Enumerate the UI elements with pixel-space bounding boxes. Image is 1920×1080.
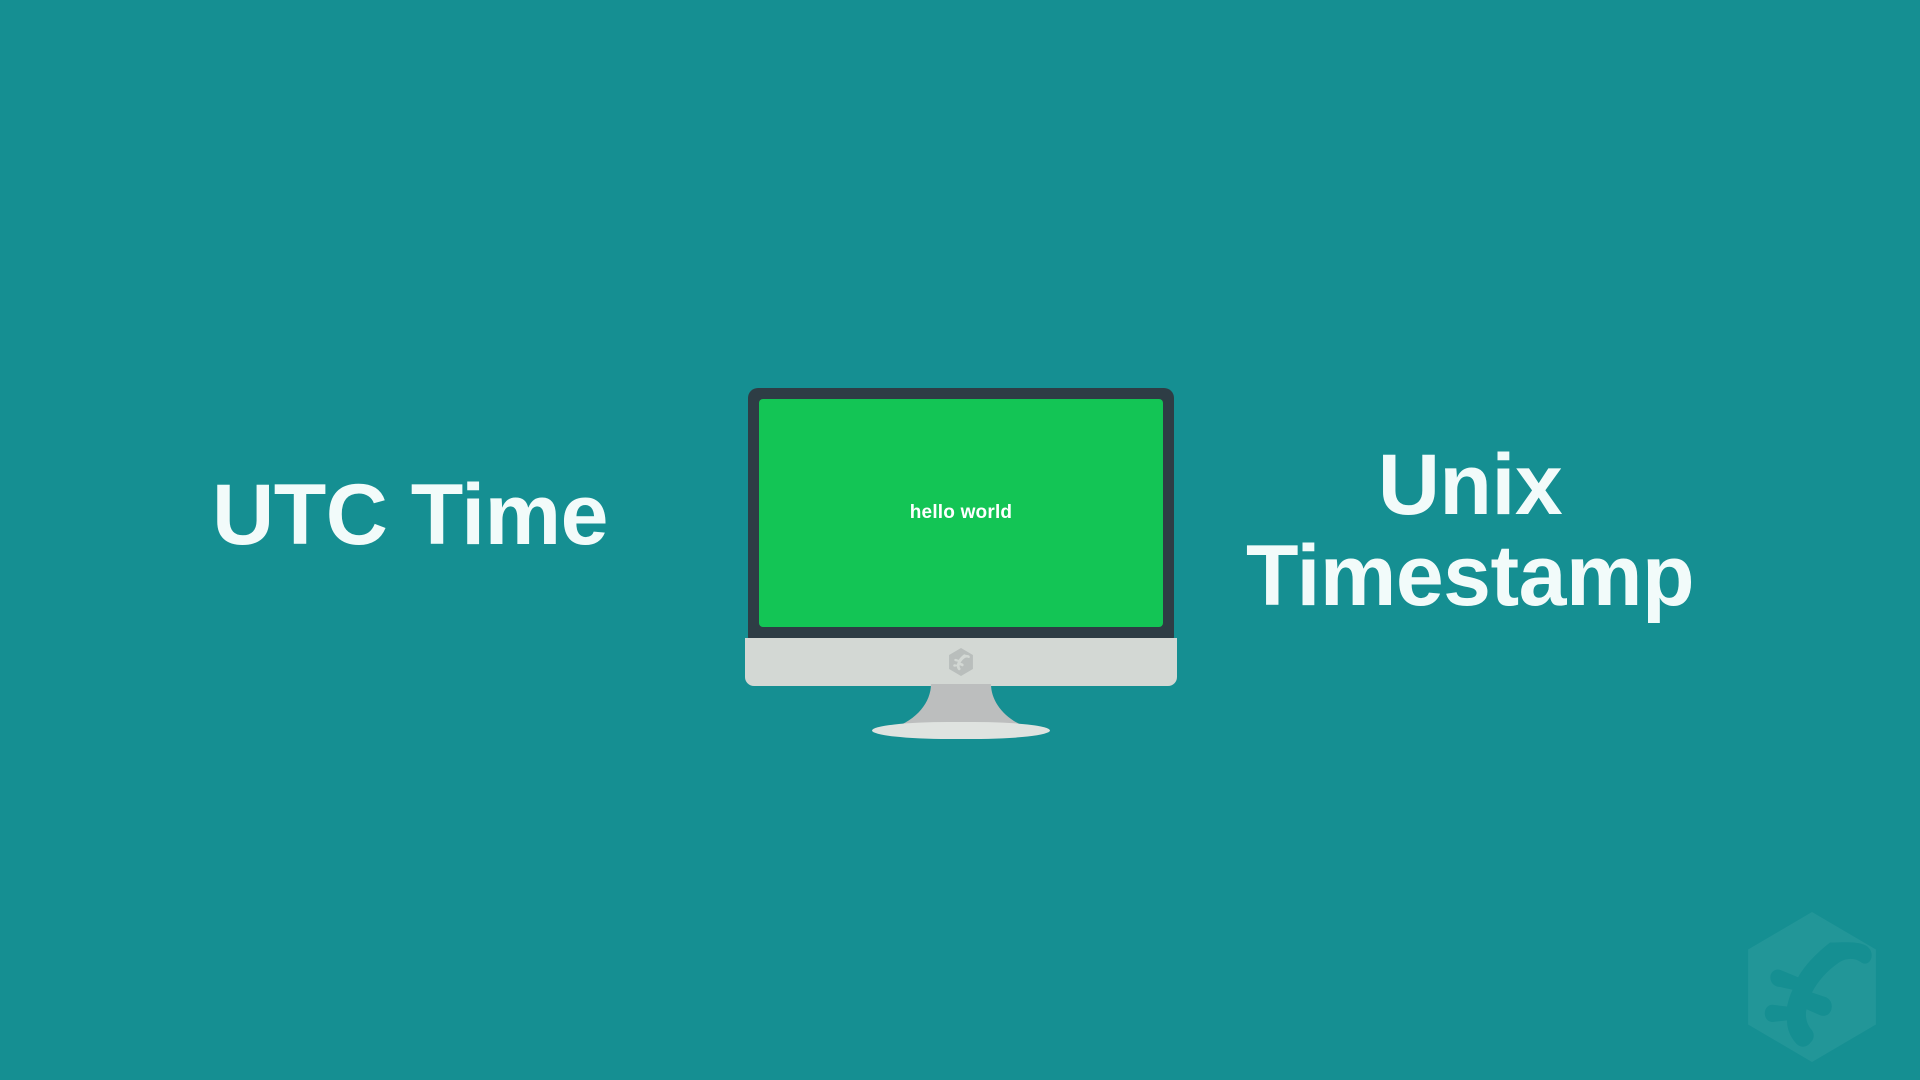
slide-canvas: UTC Time Unix Timestamp hello world bbox=[0, 0, 1920, 1080]
monitor-frame: hello world bbox=[748, 388, 1174, 640]
envato-hex-logo bbox=[948, 648, 974, 676]
right-headline: Unix Timestamp bbox=[1190, 440, 1750, 622]
monitor-base bbox=[872, 722, 1050, 739]
envato-elements-hex-watermark bbox=[1742, 912, 1882, 1062]
screen-text: hello world bbox=[910, 502, 1012, 524]
monitor-bezel bbox=[745, 638, 1177, 686]
left-headline: UTC Time bbox=[130, 470, 690, 561]
monitor-illustration: hello world bbox=[745, 388, 1177, 748]
monitor-screen: hello world bbox=[759, 399, 1163, 627]
